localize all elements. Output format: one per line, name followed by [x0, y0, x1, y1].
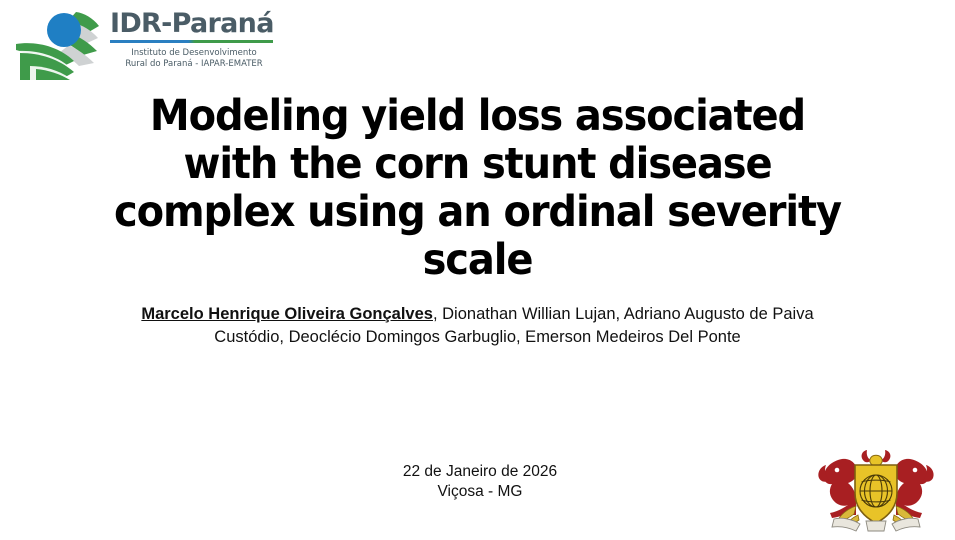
idr-subtitle-line-1: Instituto de Desenvolvimento [110, 48, 278, 59]
idr-subtitle-block: Instituto de Desenvolvimento Rural do Pa… [110, 48, 278, 70]
idr-logo-mark-icon [14, 6, 106, 80]
event-info: 22 de Janeiro de 2026 Viçosa - MG [230, 462, 730, 502]
idr-subtitle-line-2: Rural do Paraná - IAPAR-EMATER [110, 59, 278, 70]
slide-title: Modeling yield loss associated with the … [52, 92, 903, 284]
idr-wordmark-text: IDR-Paraná [110, 10, 278, 37]
title-slide: IDR-Paraná Instituto de Desenvolvimento … [0, 0, 955, 535]
idr-parana-logo: IDR-Paraná Instituto de Desenvolvimento … [14, 4, 274, 86]
author-list: Marcelo Henrique Oliveira Gonçalves, Dio… [110, 303, 845, 348]
slide-title-line-2: with the corn stunt disease [52, 140, 903, 188]
idr-wordmark-block: IDR-Paraná Instituto de Desenvolvimento … [110, 10, 278, 70]
slide-title-line-3: complex using an ordinal severity [52, 188, 903, 236]
event-date: 22 de Janeiro de 2026 [230, 462, 730, 482]
lead-author-name: Marcelo Henrique Oliveira Gonçalves [141, 305, 433, 323]
event-location: Viçosa - MG [230, 482, 730, 502]
idr-wordmark-rule [110, 40, 273, 43]
ufv-coat-of-arms-icon [812, 443, 940, 535]
slide-title-line-4: scale [52, 236, 903, 284]
slide-title-line-1: Modeling yield loss associated [52, 92, 903, 140]
